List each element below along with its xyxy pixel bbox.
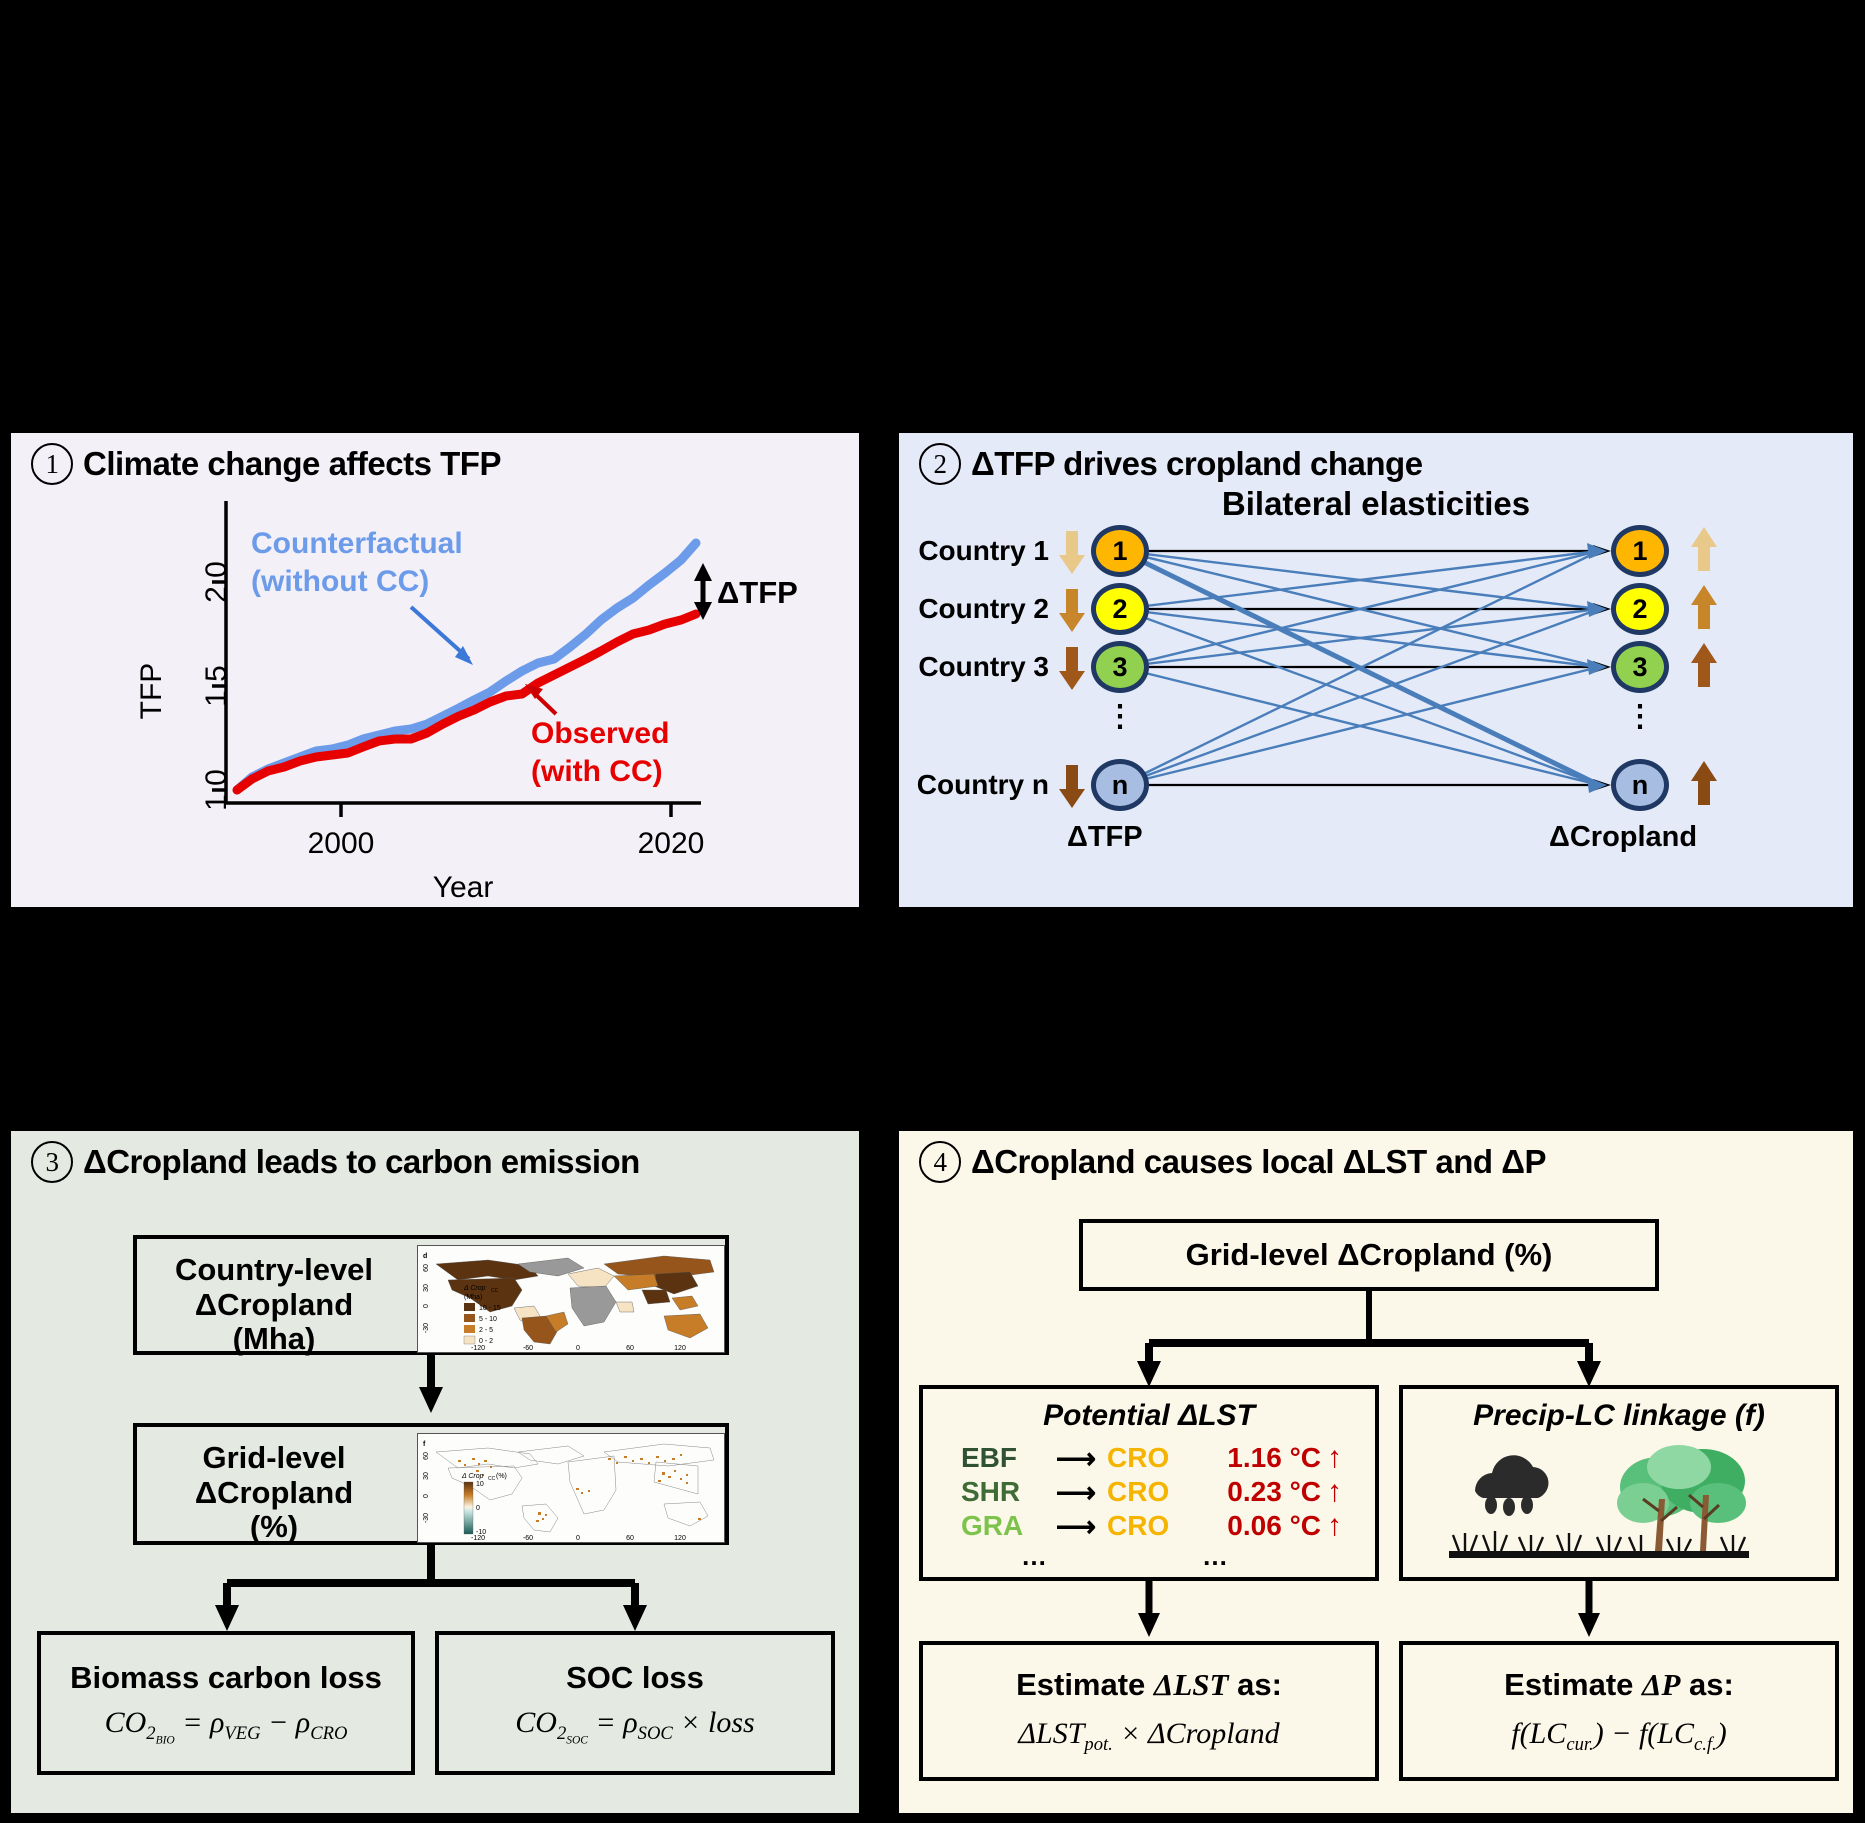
lst-ellipsis-right: … xyxy=(1107,1541,1323,1572)
up-arrow-icon-lst-0: ↑ xyxy=(1327,1441,1342,1475)
estimate-delta-p-title: Estimate ΔP as: xyxy=(1504,1667,1734,1703)
delta-cropland-footer: ΔCropland xyxy=(1549,821,1697,854)
arrow-right-icon-2: ⟶ xyxy=(1045,1510,1107,1543)
grid-level-line2: ΔCropland xyxy=(149,1476,399,1511)
lst-row-1-value: 0.23 °C xyxy=(1193,1476,1321,1508)
cropland-node-3-label: 3 xyxy=(1632,652,1647,683)
precip-lc-linkage-title: Precip-LC linkage (f) xyxy=(1403,1399,1835,1433)
map-d-ytick-3: -30 xyxy=(423,1323,430,1333)
tfp-node-1-label: 1 xyxy=(1112,536,1127,567)
biomass-carbon-loss-formula: CO2BIO = ρVEG − ρCRO xyxy=(105,1706,348,1747)
tfp-node-1[interactable]: 1 xyxy=(1091,525,1149,577)
panel1-number: 1 xyxy=(31,443,73,485)
up-arrow-icon-lst-2: ↑ xyxy=(1327,1509,1342,1543)
observed-pointer-arrow xyxy=(525,684,556,714)
lst-row-2: GRA ⟶ CRO 0.06 °C ↑ xyxy=(961,1509,1375,1543)
map-d-ytick-0: 60 xyxy=(423,1264,430,1272)
cropland-ellipsis: ⋮ xyxy=(1611,709,1669,724)
country-label-n: Country n xyxy=(899,769,1049,801)
delta-tfp-footer: ΔTFP xyxy=(1067,821,1143,854)
estimate-delta-p-box: Estimate ΔP as: f(LCcur.) − f(LCc.f.) xyxy=(1399,1641,1839,1781)
map-d-ytick-2: 0 xyxy=(423,1304,430,1308)
up-arrow-icon-3 xyxy=(1689,641,1719,689)
map-f-ytick-3: -30 xyxy=(423,1513,430,1523)
country-label-3: Country 3 xyxy=(899,651,1049,683)
up-arrow-icon-1 xyxy=(1689,525,1719,573)
potential-delta-lst-box: Potential ΔLST EBF ⟶ CRO 1.16 °C ↑ SHR ⟶… xyxy=(919,1385,1379,1581)
lst-row-1-dest: CRO xyxy=(1107,1476,1193,1508)
grid-level-line1: Grid-level xyxy=(149,1441,399,1476)
map-f-legend-suffix: (%) xyxy=(496,1473,507,1480)
cropland-node-2[interactable]: 2 xyxy=(1611,583,1669,635)
tfp-node-n[interactable]: n xyxy=(1091,759,1149,811)
panel-climate-change-affects-tfp: 1 Climate change affects TFP 1.0 1.5 2.0… xyxy=(8,430,862,910)
tfp-ellipsis: ⋮ xyxy=(1091,709,1149,724)
estimate-delta-p-formula: f(LCcur.) − f(LCc.f.) xyxy=(1511,1717,1726,1756)
arrow-right-icon-0: ⟶ xyxy=(1045,1442,1107,1475)
soc-loss-formula: CO2SOC = ρSOC × loss xyxy=(515,1706,754,1747)
delta-tfp-label: ΔTFP xyxy=(717,575,798,610)
lst-row-0: EBF ⟶ CRO 1.16 °C ↑ xyxy=(961,1441,1375,1475)
lst-row-1: SHR ⟶ CRO 0.23 °C ↑ xyxy=(961,1475,1375,1509)
rain-cloud-icon xyxy=(1475,1455,1548,1516)
grid-level-cropland-box: Grid-level ΔCropland (%) f xyxy=(133,1423,729,1545)
biomass-carbon-loss-title: Biomass carbon loss xyxy=(70,1660,382,1696)
map-d-legend-item-2: 2 - 5 xyxy=(479,1327,493,1334)
observed-label-line2: (with CC) xyxy=(531,755,663,788)
grid-level-line3: (%) xyxy=(149,1510,399,1545)
cropland-node-1[interactable]: 1 xyxy=(1611,525,1669,577)
map-f-xtick-4: 120 xyxy=(674,1535,686,1542)
map-grid-level-delta-cropland: f xyxy=(417,1433,725,1543)
panel1-title-text: Climate change affects TFP xyxy=(83,445,501,483)
x-axis-label: Year xyxy=(433,871,494,904)
panel-cropland-causes-local-lst-and-p: 4 ΔCropland causes local ΔLST and ΔP Gri… xyxy=(896,1128,1856,1816)
soc-loss-box: SOC loss CO2SOC = ρSOC × loss xyxy=(435,1631,835,1775)
map-f-legend-title: Δ Crop xyxy=(461,1473,484,1480)
map-d-legend-title-sub: CC xyxy=(491,1288,499,1294)
country-level-cropland-box: Country-level ΔCropland (Mha) d xyxy=(133,1235,729,1355)
tfp-node-2[interactable]: 2 xyxy=(1091,583,1149,635)
lst-row-2-dest: CRO xyxy=(1107,1510,1193,1542)
counterfactual-pointer-arrow xyxy=(411,607,473,665)
map-f-xtick-3: 60 xyxy=(626,1535,634,1542)
down-arrow-icon-2 xyxy=(1057,587,1087,633)
x-tick-label-2000: 2000 xyxy=(308,827,375,860)
counterfactual-label-line1: Counterfactual xyxy=(251,527,463,560)
y-tick-label-2: 1.5 xyxy=(200,665,233,707)
counterfactual-label-line2: (without CC) xyxy=(251,565,429,598)
estimate-delta-lst-formula: ΔLSTpot. × ΔCropland xyxy=(1018,1717,1279,1756)
y-tick-label-1: 1.0 xyxy=(200,769,233,811)
down-arrow-icon-1 xyxy=(1057,529,1087,575)
map-f-cbar-max: 10 xyxy=(476,1481,484,1488)
tfp-node-3[interactable]: 3 xyxy=(1091,641,1149,693)
lst-row-0-source: EBF xyxy=(961,1442,1045,1474)
map-f-ytick-0: 60 xyxy=(423,1452,430,1460)
up-arrow-icon-n xyxy=(1689,759,1719,807)
map-d-xtick-0: -120 xyxy=(471,1345,485,1352)
tfp-line-chart: 1.0 1.5 2.0 TFP 2000 2020 Year Counterfa… xyxy=(11,481,865,911)
map-f-legend-sub: CC xyxy=(488,1476,496,1482)
lst-row-0-dest: CRO xyxy=(1107,1442,1193,1474)
tfp-node-2-label: 2 xyxy=(1112,594,1127,625)
panel-cropland-leads-to-carbon-emission: 3 ΔCropland leads to carbon emission Cou… xyxy=(8,1128,862,1816)
y-tick-label-3: 2.0 xyxy=(200,561,233,603)
arrow-right-icon-1: ⟶ xyxy=(1045,1476,1107,1509)
map-d-legend-item-3: 0 - 2 xyxy=(479,1338,493,1345)
cropland-node-2-label: 2 xyxy=(1632,594,1647,625)
up-arrow-icon-2 xyxy=(1689,583,1719,631)
map-f-xtick-1: -60 xyxy=(523,1535,533,1542)
grid-level-cropland-top-box: Grid-level ΔCropland (%) xyxy=(1079,1219,1659,1291)
panel-tfp-drives-cropland-change: 2 ΔTFP drives cropland change Bilateral … xyxy=(896,430,1856,910)
map-d-letter: d xyxy=(423,1253,427,1260)
map-f-cbar-mid: 0 xyxy=(476,1505,480,1512)
cropland-node-n[interactable]: n xyxy=(1611,759,1669,811)
map-d-legend-title2: (Mha) xyxy=(464,1294,482,1301)
map-d-xtick-4: 120 xyxy=(674,1345,686,1352)
map-d-xtick-2: 0 xyxy=(576,1345,580,1352)
biomass-carbon-loss-box: Biomass carbon loss CO2BIO = ρVEG − ρCRO xyxy=(37,1631,415,1775)
country-level-line1: Country-level xyxy=(149,1253,399,1288)
estimate-delta-lst-title: Estimate ΔLST as: xyxy=(1016,1667,1282,1703)
precip-lc-linkage-box: Precip-LC linkage (f) xyxy=(1399,1385,1839,1581)
estimate-delta-lst-box: Estimate ΔLST as: ΔLSTpot. × ΔCropland xyxy=(919,1641,1379,1781)
precip-lc-illustration xyxy=(1403,1433,1843,1573)
observed-label-line1: Observed xyxy=(531,717,669,750)
map-d-legend-item-0: 10 - 15 xyxy=(479,1305,501,1312)
potential-delta-lst-title: Potential ΔLST xyxy=(923,1399,1375,1433)
soc-loss-title: SOC loss xyxy=(566,1660,704,1696)
grid-level-cropland-top-text: Grid-level ΔCropland (%) xyxy=(1186,1237,1553,1273)
map-d-legend-item-1: 5 - 10 xyxy=(479,1316,497,1323)
country-level-line3: (Mha) xyxy=(149,1322,399,1357)
tree-icon xyxy=(1617,1445,1746,1551)
map-f-ytick-1: 30 xyxy=(423,1472,430,1480)
lst-row-2-source: GRA xyxy=(961,1510,1045,1542)
map-d-xtick-1: -60 xyxy=(523,1345,533,1352)
cropland-node-3[interactable]: 3 xyxy=(1611,641,1669,693)
country-label-1: Country 1 xyxy=(899,535,1049,567)
map-country-level-delta-cropland: d xyxy=(417,1245,725,1353)
map-d-xtick-3: 60 xyxy=(626,1345,634,1352)
down-arrow-icon-n xyxy=(1057,763,1087,809)
lst-row-1-source: SHR xyxy=(961,1476,1045,1508)
down-arrow-icon-3 xyxy=(1057,645,1087,691)
country-level-cropland-text: Country-level ΔCropland (Mha) xyxy=(149,1253,399,1357)
cropland-node-n-label: n xyxy=(1632,770,1649,801)
map-f-xtick-0: -120 xyxy=(471,1535,485,1542)
y-axis-label: TFP xyxy=(135,663,168,720)
lst-row-2-value: 0.06 °C xyxy=(1193,1510,1321,1542)
country-label-2: Country 2 xyxy=(899,593,1049,625)
map-f-xtick-2: 0 xyxy=(576,1535,580,1542)
cropland-node-1-label: 1 xyxy=(1632,536,1647,567)
map-d-legend-title1: Δ Crop xyxy=(463,1285,486,1292)
map-d-ytick-1: 30 xyxy=(423,1284,430,1292)
lst-row-0-value: 1.16 °C xyxy=(1193,1442,1321,1474)
lst-ellipsis-left: … xyxy=(961,1541,1107,1572)
up-arrow-icon-lst-1: ↑ xyxy=(1327,1475,1342,1509)
panel1-title: 1 Climate change affects TFP xyxy=(31,443,501,485)
x-tick-label-2020: 2020 xyxy=(638,827,705,860)
grid-level-cropland-text: Grid-level ΔCropland (%) xyxy=(149,1441,399,1545)
country-level-line2: ΔCropland xyxy=(149,1288,399,1323)
map-f-ytick-2: 0 xyxy=(423,1494,430,1498)
tfp-node-n-label: n xyxy=(1112,770,1129,801)
tfp-node-3-label: 3 xyxy=(1112,652,1127,683)
